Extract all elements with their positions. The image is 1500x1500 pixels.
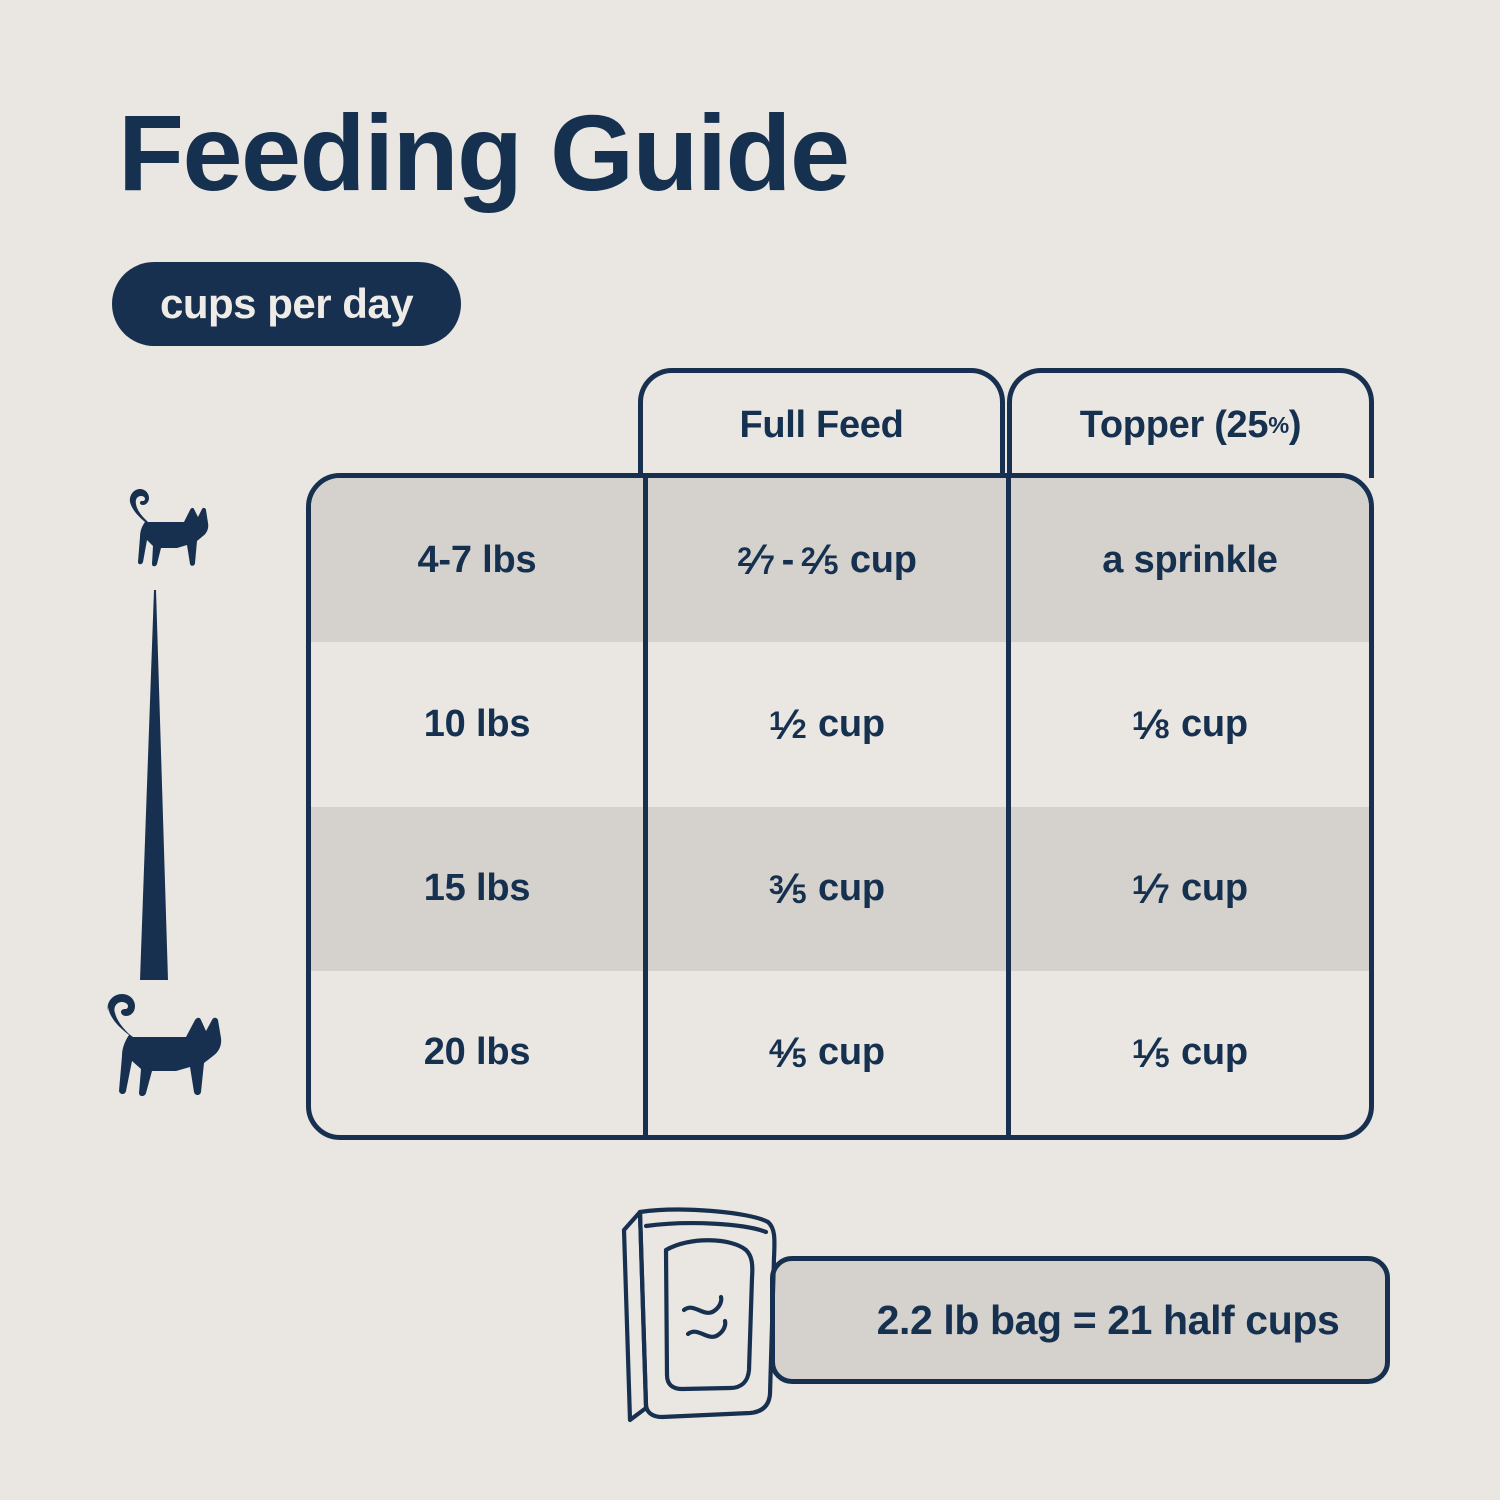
unit-label: cup <box>1181 1031 1248 1074</box>
fraction-slash: ⁄ <box>784 1029 792 1078</box>
cell-topper: 1⁄8cup <box>1006 642 1369 806</box>
cell-weight: 15 lbs <box>311 807 643 971</box>
range-dash: - <box>782 539 794 582</box>
column-header-topper: Topper (25%) <box>1007 368 1374 478</box>
fraction: 1⁄2 <box>769 700 807 749</box>
unit-label: cup <box>818 703 885 746</box>
column-header-full-feed: Full Feed <box>638 368 1005 478</box>
cat-walking-large-icon <box>80 985 262 1113</box>
bag-yield-callout: 2.2 lb bag = 21 half cups <box>610 1198 1400 1428</box>
food-bag-icon <box>610 1198 815 1428</box>
fraction: 1⁄5 <box>1132 1028 1170 1077</box>
fraction-slash: ⁄ <box>1147 701 1155 750</box>
column-header-topper-label: Topper (25 <box>1080 404 1268 447</box>
fraction: 3⁄5 <box>769 864 807 913</box>
cat-size-scale <box>72 480 292 1120</box>
cat-walking-small-icon <box>110 480 232 584</box>
cell-weight: 20 lbs <box>311 971 643 1135</box>
unit-label: cup <box>1181 703 1248 746</box>
cell-full-feed: 1⁄2cup <box>643 642 1006 806</box>
size-scale-wedge-icon <box>130 590 180 980</box>
fraction-slash: ⁄ <box>752 536 760 585</box>
unit-label: cup <box>818 867 885 910</box>
feeding-table: Full Feed Topper (25%) 4-7 lbs 2⁄7-2⁄5cu… <box>306 368 1374 1140</box>
fraction-b: 2⁄5 <box>801 536 839 585</box>
bag-yield-banner: 2.2 lb bag = 21 half cups <box>770 1256 1390 1384</box>
column-header-full-feed-label: Full Feed <box>739 404 903 447</box>
cell-full-feed: 3⁄5cup <box>643 807 1006 971</box>
cell-topper: a sprinkle <box>1006 478 1369 642</box>
cell-weight: 10 lbs <box>311 642 643 806</box>
percent-symbol: % <box>1268 412 1289 439</box>
cell-topper: 1⁄5cup <box>1006 971 1369 1135</box>
fraction-slash: ⁄ <box>784 865 792 914</box>
table-row: 4-7 lbs 2⁄7-2⁄5cup a sprinkle <box>311 478 1369 642</box>
fraction-a: 2⁄7 <box>737 536 775 585</box>
unit-label: cup <box>850 539 917 582</box>
fraction-slash: ⁄ <box>1147 1029 1155 1078</box>
fraction-slash: ⁄ <box>1147 865 1155 914</box>
unit-label: cup <box>1181 867 1248 910</box>
feeding-guide-infographic: Feeding Guide cups per day Full Feed <box>0 0 1500 1500</box>
cups-per-day-badge: cups per day <box>112 262 461 346</box>
unit-label: cup <box>818 1031 885 1074</box>
table-row: 15 lbs 3⁄5cup 1⁄7cup <box>311 807 1369 971</box>
table-header-row: Full Feed Topper (25%) <box>638 368 1374 478</box>
fraction: 1⁄7 <box>1132 864 1170 913</box>
fraction: 1⁄8 <box>1132 700 1170 749</box>
cell-full-feed: 2⁄7-2⁄5cup <box>643 478 1006 642</box>
cell-full-feed: 4⁄5cup <box>643 971 1006 1135</box>
table-body: 4-7 lbs 2⁄7-2⁄5cup a sprinkle 10 lbs 1⁄2… <box>306 473 1374 1140</box>
table-row: 20 lbs 4⁄5cup 1⁄5cup <box>311 971 1369 1135</box>
page-title: Feeding Guide <box>118 96 849 209</box>
fraction-slash: ⁄ <box>816 536 824 585</box>
fraction: 4⁄5 <box>769 1028 807 1077</box>
fraction-slash: ⁄ <box>784 701 792 750</box>
table-row: 10 lbs 1⁄2cup 1⁄8cup <box>311 642 1369 806</box>
cell-topper: 1⁄7cup <box>1006 807 1369 971</box>
column-header-topper-label-end: ) <box>1289 404 1301 447</box>
cell-weight: 4-7 lbs <box>311 478 643 642</box>
